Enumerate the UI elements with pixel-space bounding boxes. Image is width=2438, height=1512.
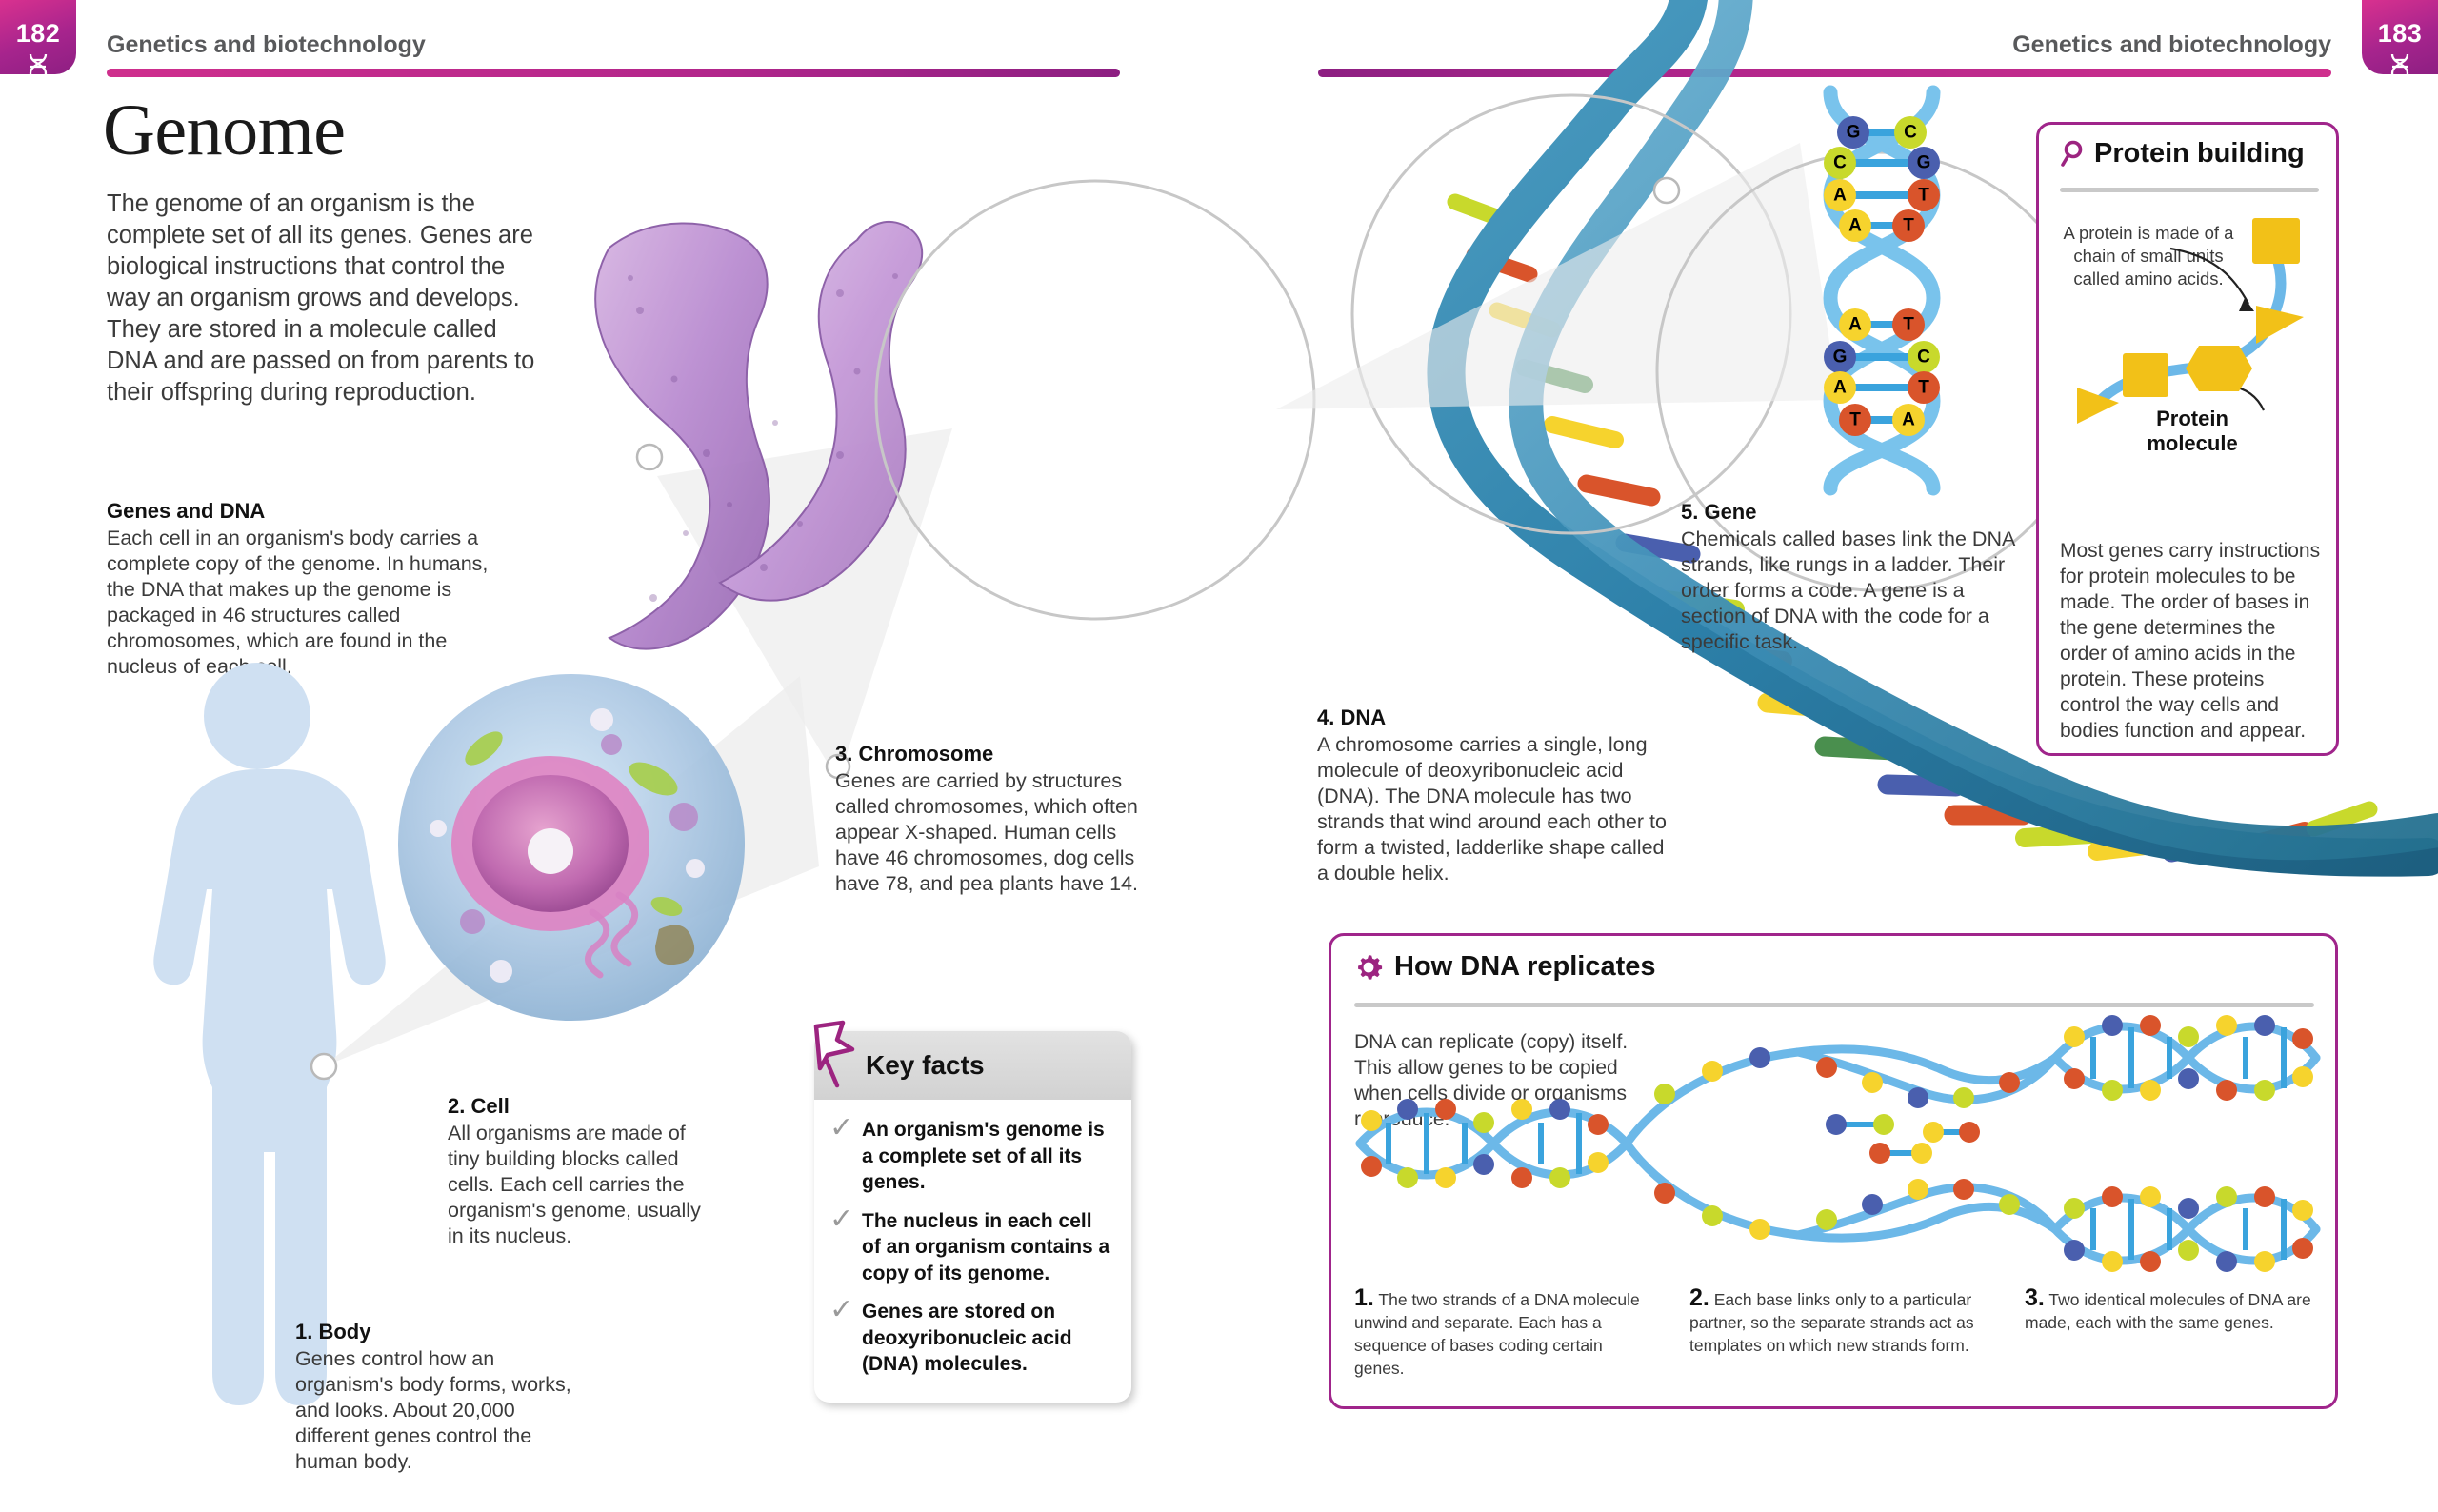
svg-text:A: A	[1833, 186, 1847, 206]
svg-text:G: G	[1847, 123, 1861, 143]
step-5-body: Chemicals called bases link the DNA stra…	[1681, 527, 2019, 655]
replication-step-2: 2. Each base links only to a particular …	[1689, 1286, 1989, 1357]
replication-step-1: 1. The two strands of a DNA molecule unw…	[1354, 1286, 1654, 1380]
replicates-panel-divider	[1354, 1003, 2314, 1007]
protein-molecule-label: Protein molecule	[2130, 407, 2254, 456]
svg-text:A: A	[1848, 315, 1862, 335]
lead-line-cell-to-chromosome	[552, 390, 1086, 790]
step-2-body: All organisms are made of tiny building …	[448, 1121, 705, 1249]
step-1-body-caption: 1. Body Genes control how an organism's …	[295, 1319, 581, 1475]
protein-molecule-label-line2: molecule	[2147, 431, 2237, 455]
genes-and-dna-section: Genes and DNA Each cell in an organism's…	[107, 498, 507, 680]
step-3-chromosome-caption: 3. Chromosome Genes are carried by struc…	[835, 741, 1140, 897]
step-4-dna-caption: 4. DNA A chromosome carries a single, lo…	[1317, 705, 1669, 886]
step-1-heading: 1. Body	[295, 1319, 581, 1344]
svg-text:T: T	[1903, 315, 1914, 335]
protein-molecule-label-line1: Protein	[2156, 407, 2228, 430]
step-1-body: Genes control how an organism's body for…	[295, 1346, 581, 1475]
key-facts-item-text: Genes are stored on deoxyribonucleic aci…	[862, 1299, 1110, 1378]
key-facts-list: ✓ An organism's genome is a complete set…	[814, 1100, 1131, 1400]
protein-building-title: Protein building	[2094, 138, 2305, 169]
svg-text:C: C	[1917, 348, 1930, 368]
lead-line-body-to-cell	[305, 619, 838, 1114]
svg-text:T: T	[1918, 186, 1929, 206]
svg-text:A: A	[1833, 378, 1847, 398]
intro-paragraph: The genome of an organism is the complet…	[107, 189, 545, 408]
chromosome-illustration	[571, 219, 1200, 666]
replication-step-2-number: 2.	[1689, 1284, 1709, 1311]
running-head-right: Genetics and biotechnology	[2012, 31, 2331, 59]
page-number-right: 183	[2362, 19, 2438, 49]
header-rule-right	[1318, 69, 2331, 77]
key-facts-item-text: An organism's genome is a complete set o…	[862, 1117, 1110, 1196]
check-tick-icon: ✓	[829, 1299, 862, 1378]
replication-step-2-text: Each base links only to a particular par…	[1689, 1290, 1974, 1355]
page-tab-right: 183	[2362, 0, 2438, 74]
replication-step-3: 3. Two identical molecules of DNA are ma…	[2025, 1286, 2325, 1334]
protein-building-panel: Protein building A protein is made of a …	[2036, 122, 2339, 756]
step-4-body: A chromosome carries a single, long mole…	[1317, 732, 1669, 886]
step-5-heading: 5. Gene	[1681, 499, 2019, 525]
key-facts-item: ✓ The nucleus in each cell of an organis…	[829, 1208, 1110, 1287]
how-dna-replicates-panel: How DNA replicates DNA can replicate (co…	[1329, 933, 2338, 1409]
svg-text:G: G	[1917, 153, 1931, 173]
key-facts-item: ✓ Genes are stored on deoxyribonucleic a…	[829, 1299, 1110, 1378]
protein-panel-divider	[2060, 188, 2319, 192]
how-dna-replicates-title: How DNA replicates	[1394, 951, 1656, 983]
dna-replication-diagram	[1350, 1010, 2322, 1267]
genes-and-dna-body: Each cell in an organism's body carries …	[107, 526, 507, 680]
step-4-heading: 4. DNA	[1317, 705, 1669, 730]
replication-step-3-number: 3.	[2025, 1284, 2045, 1311]
genes-and-dna-heading: Genes and DNA	[107, 498, 507, 524]
lead-line-dna-to-gene	[1267, 124, 1895, 524]
replication-step-1-text: The two strands of a DNA molecule unwind…	[1354, 1290, 1640, 1378]
replication-step-3-text: Two identical molecules of DNA are made,…	[2025, 1290, 2311, 1332]
magnifier-icon	[2060, 140, 2085, 169]
key-facts-title: Key facts	[866, 1050, 985, 1081]
page-tab-left: 182	[0, 0, 76, 74]
svg-text:T: T	[1918, 378, 1929, 398]
step-2-heading: 2. Cell	[448, 1093, 705, 1119]
step-3-body: Genes are carried by structures called c…	[835, 768, 1140, 897]
gear-icon	[1354, 953, 1383, 982]
replication-step-1-number: 1.	[1354, 1284, 1374, 1311]
check-tick-icon: ✓	[829, 1208, 862, 1287]
key-facts-item-text: The nucleus in each cell of an organism …	[862, 1208, 1110, 1287]
svg-text:T: T	[1849, 410, 1861, 430]
svg-text:A: A	[1848, 216, 1862, 236]
key-facts-item: ✓ An organism's genome is a complete set…	[829, 1117, 1110, 1196]
svg-text:T: T	[1903, 216, 1914, 236]
page-title: Genome	[103, 90, 345, 172]
step-3-heading: 3. Chromosome	[835, 741, 1140, 766]
svg-text:G: G	[1833, 348, 1848, 368]
svg-text:C: C	[1833, 153, 1847, 173]
step-5-gene-caption: 5. Gene Chemicals called bases link the …	[1681, 499, 2019, 655]
dna-helix-icon	[26, 52, 50, 94]
cell-illustration	[381, 657, 762, 1038]
svg-text:C: C	[1904, 123, 1917, 143]
page-number-left: 182	[0, 19, 76, 49]
svg-text:A: A	[1902, 410, 1915, 430]
protein-chain-diagram	[2048, 210, 2334, 425]
running-head-left: Genetics and biotechnology	[107, 31, 426, 59]
base-pair-ladder: G C C G A T A T A T G C A T T A	[1790, 100, 2009, 481]
check-tick-icon: ✓	[829, 1117, 862, 1196]
dna-helix-icon	[2388, 52, 2412, 94]
pushpin-icon	[805, 1017, 871, 1091]
step-2-cell-caption: 2. Cell All organisms are made of tiny b…	[448, 1093, 705, 1249]
protein-building-body: Most genes carry instructions for protei…	[2060, 538, 2325, 744]
header-rule-left	[107, 69, 1120, 77]
